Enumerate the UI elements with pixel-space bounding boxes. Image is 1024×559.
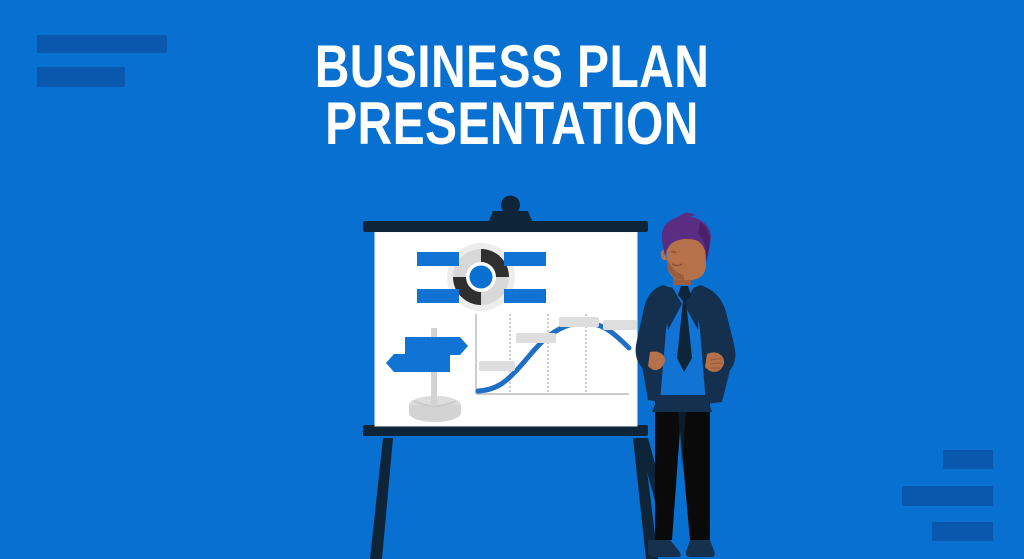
chart-label-3 xyxy=(559,317,599,327)
presenter-shoe-left xyxy=(648,540,681,557)
easel-legs xyxy=(370,438,670,559)
slide-canvas: BUSINESS PLAN PRESENTATION xyxy=(0,0,1024,559)
callout-box-2 xyxy=(504,252,546,266)
easel-top-bar xyxy=(363,221,648,232)
callout-box-3 xyxy=(417,289,459,303)
easel-bottom-bar xyxy=(363,425,648,436)
easel-knob xyxy=(489,196,532,222)
presenter-jacket-hem xyxy=(652,395,712,412)
callout-box-4 xyxy=(504,289,546,303)
presentation-illustration xyxy=(0,0,1024,559)
donut-center xyxy=(470,266,493,289)
chart-label-4 xyxy=(603,320,637,330)
chart-label-1 xyxy=(479,361,515,371)
presenter-shoe-right xyxy=(686,540,715,557)
chart-label-2 xyxy=(516,333,556,343)
callout-box-1 xyxy=(417,252,459,266)
sign-right xyxy=(405,337,468,355)
sign-left xyxy=(386,354,450,372)
